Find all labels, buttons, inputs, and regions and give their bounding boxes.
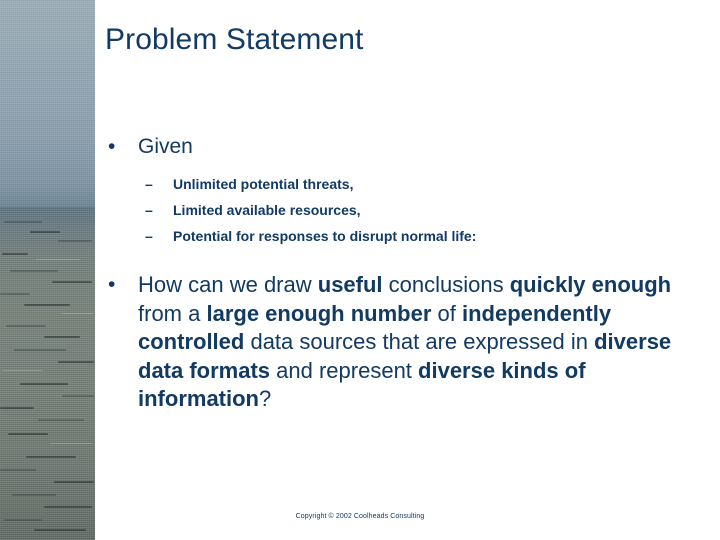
sub-bullet-item-2: – Limited available resources, <box>105 197 685 223</box>
bullet-glyph-icon: • <box>108 271 115 299</box>
question-text: How can we draw useful conclusions quick… <box>138 272 671 411</box>
bullet-given-label: Given <box>138 135 193 158</box>
emphasis-run: quickly enough <box>510 272 671 297</box>
bullet-given: • Given <box>105 133 685 161</box>
text-run: conclusions <box>383 272 510 297</box>
sub-bullet-item-3: – Potential for responses to disrupt nor… <box>105 223 685 249</box>
text-run: data sources that are expressed in <box>244 329 594 354</box>
slide-body: • Given – Unlimited potential threats, –… <box>105 133 685 414</box>
ocean-photo-strip <box>0 0 95 540</box>
sub-bullet-list: – Unlimited potential threats, – Limited… <box>105 171 685 249</box>
text-run: and represent <box>270 358 418 383</box>
sub-bullet-item-1: – Unlimited potential threats, <box>105 171 685 197</box>
sub-bullet-label-3: Potential for responses to disrupt norma… <box>173 228 476 244</box>
footer-copyright: Copyright © 2002 Coolheads Consulting <box>0 512 720 521</box>
emphasis-run: useful <box>318 272 383 297</box>
text-run: from a <box>138 301 206 326</box>
bullet-question: • How can we draw useful conclusions qui… <box>105 271 685 414</box>
question-bullet-block: • How can we draw useful conclusions qui… <box>105 271 685 414</box>
text-run: of <box>431 301 462 326</box>
dash-glyph-icon: – <box>145 171 153 197</box>
page-title: Problem Statement <box>105 22 685 58</box>
sub-bullet-label-1: Unlimited potential threats, <box>173 176 353 192</box>
bullet-glyph-icon: • <box>108 133 115 161</box>
dash-glyph-icon: – <box>145 223 153 249</box>
text-run: ? <box>259 386 271 411</box>
emphasis-run: large enough number <box>206 301 431 326</box>
photo-dither-overlay <box>0 0 95 540</box>
text-run: How can we draw <box>138 272 318 297</box>
sub-bullet-label-2: Limited available resources, <box>173 202 361 218</box>
dash-glyph-icon: – <box>145 197 153 223</box>
slide-canvas: Problem Statement • Given – Unlimited po… <box>0 0 720 540</box>
